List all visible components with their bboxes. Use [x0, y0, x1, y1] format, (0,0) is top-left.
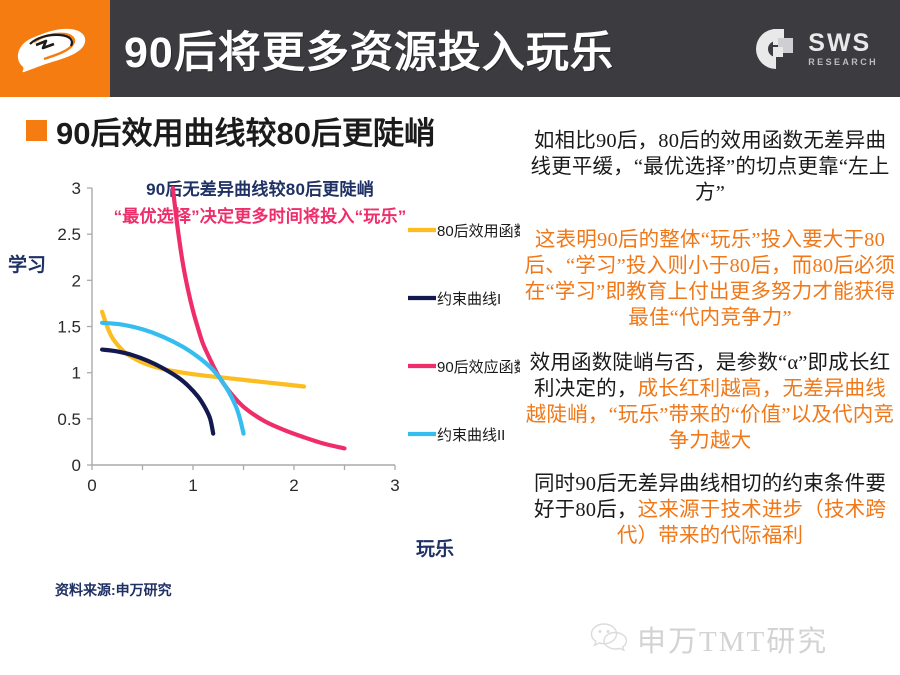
y-tick-label: 1.5 [57, 318, 81, 337]
commentary-paragraph-4: 同时90后无差异曲线相切的约束条件要好于80后，这来源于技术进步（技术跨代）带来… [524, 471, 896, 550]
legend-label: 约束曲线II [437, 427, 505, 444]
alibaba-swirl-icon [12, 20, 98, 78]
chart-legend: 80后效用函数约束曲线I90后效应函数约束曲线II [408, 223, 520, 444]
page-header: 90后将更多资源投入玩乐 SWS RESEARCH [0, 0, 900, 97]
brand-logo-block [0, 0, 110, 97]
sws-mark-icon [754, 27, 798, 71]
y-tick-label: 2.5 [57, 225, 81, 244]
x-tick-label: 3 [390, 476, 399, 495]
chart-plot: 00.511.522.530123 80后效用函数约束曲线I90后效应函数约束曲… [0, 170, 520, 590]
x-tick-label: 1 [188, 476, 197, 495]
square-bullet-icon [26, 120, 47, 141]
x-tick-label: 2 [289, 476, 298, 495]
watermark: 申万TMT研究 [590, 618, 828, 660]
legend-label: 约束曲线I [437, 291, 501, 308]
sws-wordmark: SWS [808, 31, 871, 56]
commentary-paragraph-3: 效用函数陡峭与否，是参数“α”即成长红利决定的，成长红利越高，无差异曲线越陡峭，… [524, 350, 896, 455]
y-tick-label: 2 [72, 271, 81, 290]
chart-source-note: 资料来源:申万研究 [55, 580, 172, 600]
chart-series-group [102, 188, 344, 448]
commentary-paragraph-1: 如相比90后，80后的效用函数无差异曲线更平缓，“最优选择”的切点更靠“左上方” [524, 128, 896, 207]
y-tick-label: 3 [72, 179, 81, 198]
section-heading: 90后效用曲线较80后更陡峭 [26, 108, 435, 153]
commentary-column: 如相比90后，80后的效用函数无差异曲线更平缓，“最优选择”的切点更靠“左上方”… [524, 128, 896, 563]
legend-label: 80后效用函数 [437, 223, 520, 240]
legend-label: 90后效应函数 [437, 358, 520, 376]
commentary-text-highlight: 这来源于技术进步（技术跨代）带来的代际福利 [617, 499, 886, 547]
sws-brand: SWS RESEARCH [754, 27, 900, 71]
y-tick-label: 1 [72, 364, 81, 383]
chart-tick-labels: 00.511.522.530123 [57, 179, 399, 495]
y-tick-label: 0 [72, 456, 81, 475]
section-heading-label: 90后效用曲线较80后更陡峭 [56, 108, 435, 153]
chart-panel: 90后无差异曲线较80后更陡峭 “最优选择”决定更多时间将投入“玩乐” 学习 玩… [0, 170, 520, 625]
chart-series-line [102, 350, 213, 434]
sws-subtitle: RESEARCH [808, 58, 878, 67]
y-tick-label: 0.5 [57, 410, 81, 429]
wechat-icon [590, 622, 628, 657]
watermark-label: 申万TMT研究 [637, 618, 828, 660]
page-title: 90后将更多资源投入玩乐 [110, 18, 754, 80]
chart-series-line [102, 323, 243, 434]
commentary-paragraph-2: 这表明90后的整体“玩乐”投入要大于80后、“学习”投入则小于80后，而80后必… [524, 227, 896, 332]
x-tick-label: 0 [87, 476, 96, 495]
chart-series-line [173, 188, 345, 448]
